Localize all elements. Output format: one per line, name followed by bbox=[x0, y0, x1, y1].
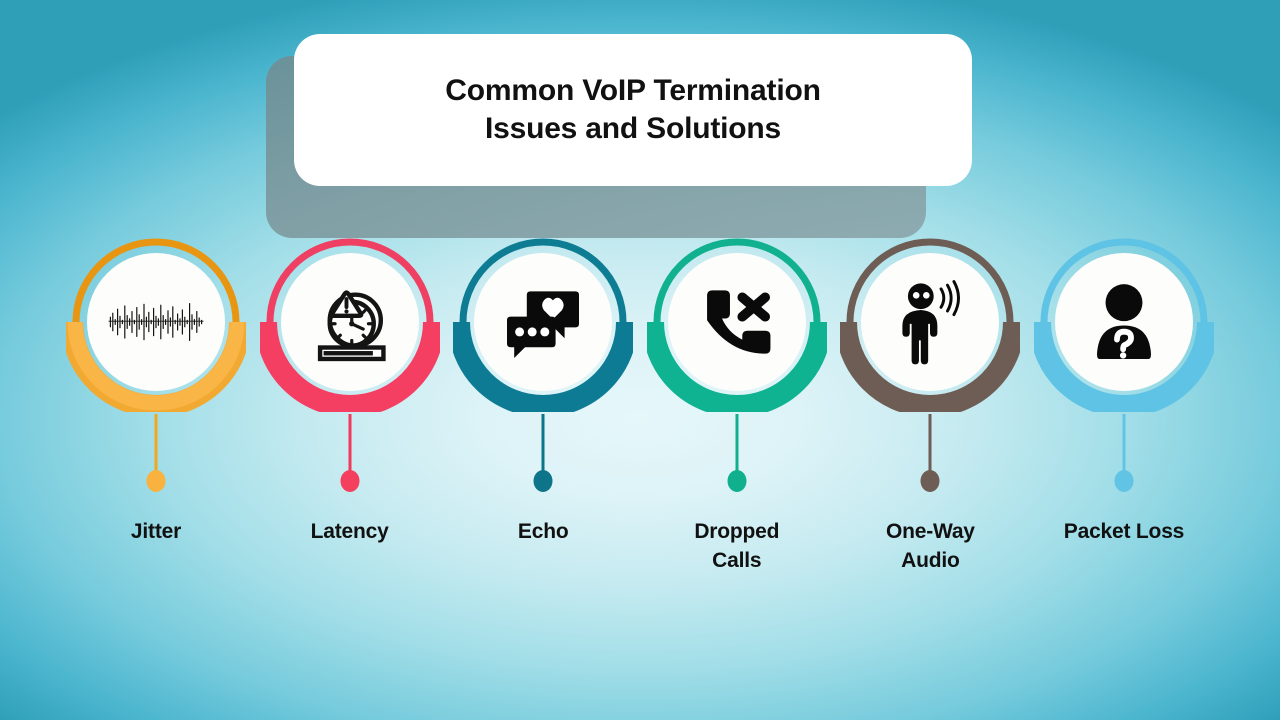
issue-label-jitter: Jitter bbox=[64, 518, 249, 547]
issue-item-packet-loss[interactable]: Packet Loss bbox=[1034, 232, 1214, 612]
connector-dot-dropped-calls bbox=[727, 470, 746, 492]
issue-item-one-way-audio[interactable]: One-Way Audio bbox=[840, 232, 1020, 612]
connector-stem-echo bbox=[542, 414, 545, 476]
issue-label-dropped-calls: Dropped Calls bbox=[644, 518, 829, 576]
page-title: Common VoIP Termination Issues and Solut… bbox=[445, 72, 820, 148]
title-card-wrapper: Common VoIP Termination Issues and Solut… bbox=[266, 34, 972, 202]
issue-label-one-way-audio: One-Way Audio bbox=[838, 518, 1023, 576]
issue-label-echo: Echo bbox=[451, 518, 636, 547]
issue-circle-packet-loss bbox=[1034, 232, 1214, 412]
issue-item-latency[interactable]: Latency bbox=[260, 232, 440, 612]
issue-label-packet-loss: Packet Loss bbox=[1031, 518, 1216, 547]
connector-dot-echo bbox=[534, 470, 553, 492]
connector-dot-one-way-audio bbox=[921, 470, 940, 492]
phone-missed-icon bbox=[689, 274, 785, 370]
issue-circle-one-way-audio bbox=[840, 232, 1020, 412]
issue-circle-echo bbox=[453, 232, 633, 412]
clock-warning-icon bbox=[302, 274, 398, 370]
icon-disc-jitter bbox=[87, 253, 225, 391]
issue-label-latency: Latency bbox=[257, 518, 442, 547]
icon-disc-dropped-calls bbox=[668, 253, 806, 391]
connector-stem-one-way-audio bbox=[929, 414, 932, 476]
issue-circle-jitter bbox=[66, 232, 246, 412]
icon-disc-packet-loss bbox=[1055, 253, 1193, 391]
issue-circle-latency bbox=[260, 232, 440, 412]
title-card: Common VoIP Termination Issues and Solut… bbox=[294, 34, 972, 186]
connector-dot-packet-loss bbox=[1114, 470, 1133, 492]
connector-dot-latency bbox=[340, 470, 359, 492]
issue-item-jitter[interactable]: Jitter bbox=[66, 232, 246, 612]
issue-item-dropped-calls[interactable]: Dropped Calls bbox=[647, 232, 827, 612]
connector-stem-latency bbox=[348, 414, 351, 476]
connector-stem-packet-loss bbox=[1122, 414, 1125, 476]
issues-row: Jitter bbox=[0, 232, 1280, 612]
person-question-icon bbox=[1076, 274, 1172, 370]
issue-item-echo[interactable]: Echo bbox=[453, 232, 633, 612]
icon-disc-one-way-audio bbox=[861, 253, 999, 391]
icon-disc-latency bbox=[281, 253, 419, 391]
connector-stem-dropped-calls bbox=[735, 414, 738, 476]
issue-circle-dropped-calls bbox=[647, 232, 827, 412]
connector-stem-jitter bbox=[155, 414, 158, 476]
icon-disc-echo bbox=[474, 253, 612, 391]
chat-bubbles-icon bbox=[495, 274, 591, 370]
audio-waveform-icon bbox=[108, 274, 204, 370]
person-speaking-icon bbox=[882, 274, 978, 370]
connector-dot-jitter bbox=[147, 470, 166, 492]
